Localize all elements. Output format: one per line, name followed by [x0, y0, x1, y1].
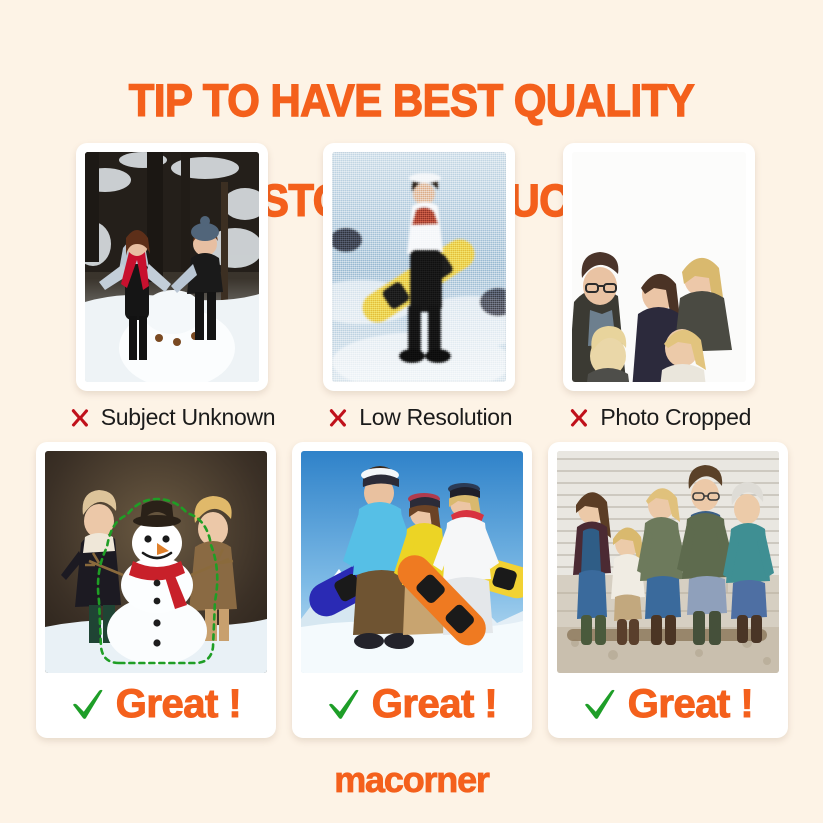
great-label-family: Great !: [557, 673, 779, 735]
bad-example-subject-unknown: Subject Unknown: [68, 143, 276, 431]
photo-card: [76, 143, 268, 391]
photo-art-snowman-outlined: [45, 451, 267, 673]
brand-logo: macorner: [0, 759, 823, 801]
photo-art-snowboarders: [301, 451, 523, 673]
photo-card: Great !: [36, 442, 276, 738]
great-text: Great !: [628, 684, 753, 724]
photo-art-snowboarder-pixelated: [332, 152, 506, 382]
examples-grid: Subject Unknown: [0, 143, 823, 738]
good-example-snowboarders: Great !: [292, 442, 532, 738]
cross-icon: [326, 406, 350, 430]
photo-cropped: [572, 152, 746, 382]
cross-icon: [68, 406, 92, 430]
photo-card: Great !: [292, 442, 532, 738]
page-title-line-1: TIP TO HAVE BEST QUALITY: [29, 76, 794, 126]
good-examples-row: Great !: [0, 442, 823, 738]
good-example-snowman: Great !: [36, 442, 276, 738]
great-text: Great !: [372, 684, 497, 724]
photo-subject-unknown: [85, 152, 259, 382]
photo-great-family: [557, 451, 779, 673]
photo-card: [323, 143, 515, 391]
great-text: Great !: [116, 684, 241, 724]
cross-icon: [567, 406, 591, 430]
check-icon: [70, 686, 106, 722]
photo-card: Great !: [548, 442, 788, 738]
caption-label: Photo Cropped: [600, 404, 751, 431]
great-label-snowman: Great !: [45, 673, 267, 735]
great-label-snowboarders: Great !: [301, 673, 523, 735]
bad-example-photo-cropped: Photo Cropped: [563, 143, 755, 431]
caption-label: Subject Unknown: [101, 404, 276, 431]
caption-photo-cropped: Photo Cropped: [567, 404, 751, 431]
photo-great-snowman: [45, 451, 267, 673]
caption-low-resolution: Low Resolution: [326, 404, 512, 431]
caption-subject-unknown: Subject Unknown: [68, 404, 276, 431]
photo-art-snowy-forest: [85, 152, 259, 382]
check-icon: [326, 686, 362, 722]
photo-art-family-barn: [557, 451, 779, 673]
bad-example-low-resolution: Low Resolution: [323, 143, 515, 431]
bad-examples-row: Subject Unknown: [0, 143, 823, 431]
photo-card: [563, 143, 755, 391]
infographic-page: TIP TO HAVE BEST QUALITY CUSTOM PRODUCTS: [0, 0, 823, 823]
caption-label: Low Resolution: [359, 404, 512, 431]
photo-low-resolution: [332, 152, 506, 382]
photo-great-snowboarders: [301, 451, 523, 673]
good-example-family: Great !: [548, 442, 788, 738]
check-icon: [582, 686, 618, 722]
photo-art-family-cropped: [572, 152, 746, 382]
